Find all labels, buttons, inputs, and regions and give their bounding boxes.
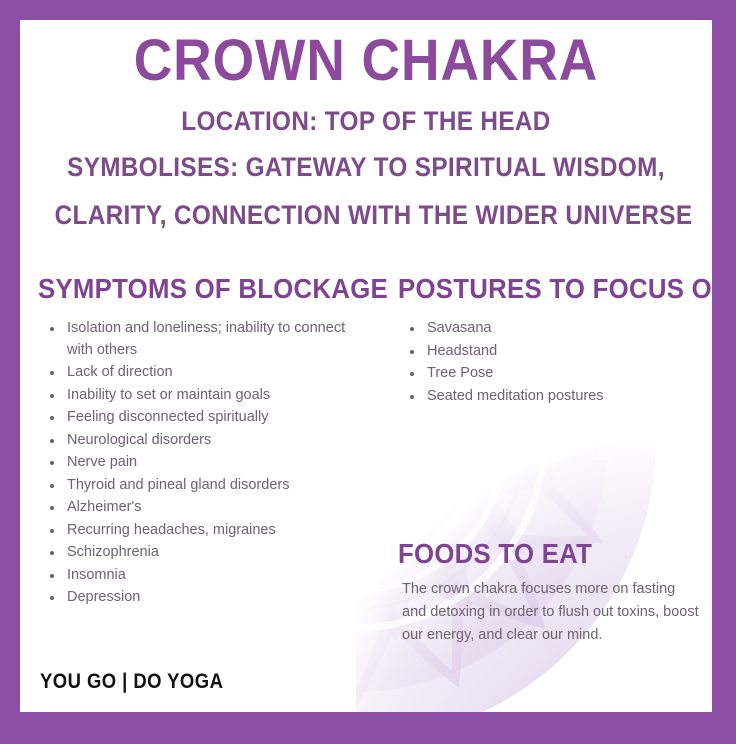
section-heading-postures: POSTURES TO FOCUS ON [398, 275, 712, 303]
list-item: Neurological disorders [42, 430, 362, 452]
list-item: Recurring headaches, migraines [42, 520, 362, 542]
section-heading-symptoms: SYMPTOMS OF BLOCKAGE [38, 275, 388, 303]
list-item: Inability to set or maintain goals [42, 385, 362, 407]
list-item: Lack of direction [42, 362, 362, 384]
poster-frame: CROWN CHAKRA LOCATION: TOP OF THE HEAD S… [0, 0, 736, 744]
list-item: Feeling disconnected spiritually [42, 407, 362, 429]
brand-wordmark: YOU GO | DO YOGA [40, 670, 223, 694]
list-item: Tree Pose [402, 363, 692, 385]
postures-list: Savasana Headstand Tree Pose Seated medi… [402, 318, 692, 408]
list-item: Nerve pain [42, 452, 362, 474]
subtitle-symbolises-line-1: SYMBOLISES: GATEWAY TO SPIRITUAL WISDOM, [55, 154, 678, 181]
list-item: Depression [42, 587, 362, 609]
section-heading-foods: FOODS TO EAT [398, 540, 592, 568]
poster-card: CROWN CHAKRA LOCATION: TOP OF THE HEAD S… [20, 20, 712, 712]
list-item: Thyroid and pineal gland disorders [42, 475, 362, 497]
list-item: Savasana [402, 318, 692, 340]
poster-content: CROWN CHAKRA LOCATION: TOP OF THE HEAD S… [20, 20, 712, 712]
page-title: CROWN CHAKRA [48, 32, 685, 90]
subtitle-location: LOCATION: TOP OF THE HEAD [55, 108, 678, 135]
list-item: Isolation and loneliness; inability to c… [42, 318, 362, 361]
list-item: Schizophrenia [42, 542, 362, 564]
list-item: Seated meditation postures [402, 386, 692, 408]
list-item: Alzheimer's [42, 497, 362, 519]
list-item: Insomnia [42, 565, 362, 587]
foods-description: The crown chakra focuses more on fasting… [402, 578, 702, 647]
list-item: Headstand [402, 341, 692, 363]
subtitle-symbolises-line-2: CLARITY, CONNECTION WITH THE WIDER UNIVE… [55, 202, 678, 229]
symptoms-list: Isolation and loneliness; inability to c… [42, 318, 362, 610]
